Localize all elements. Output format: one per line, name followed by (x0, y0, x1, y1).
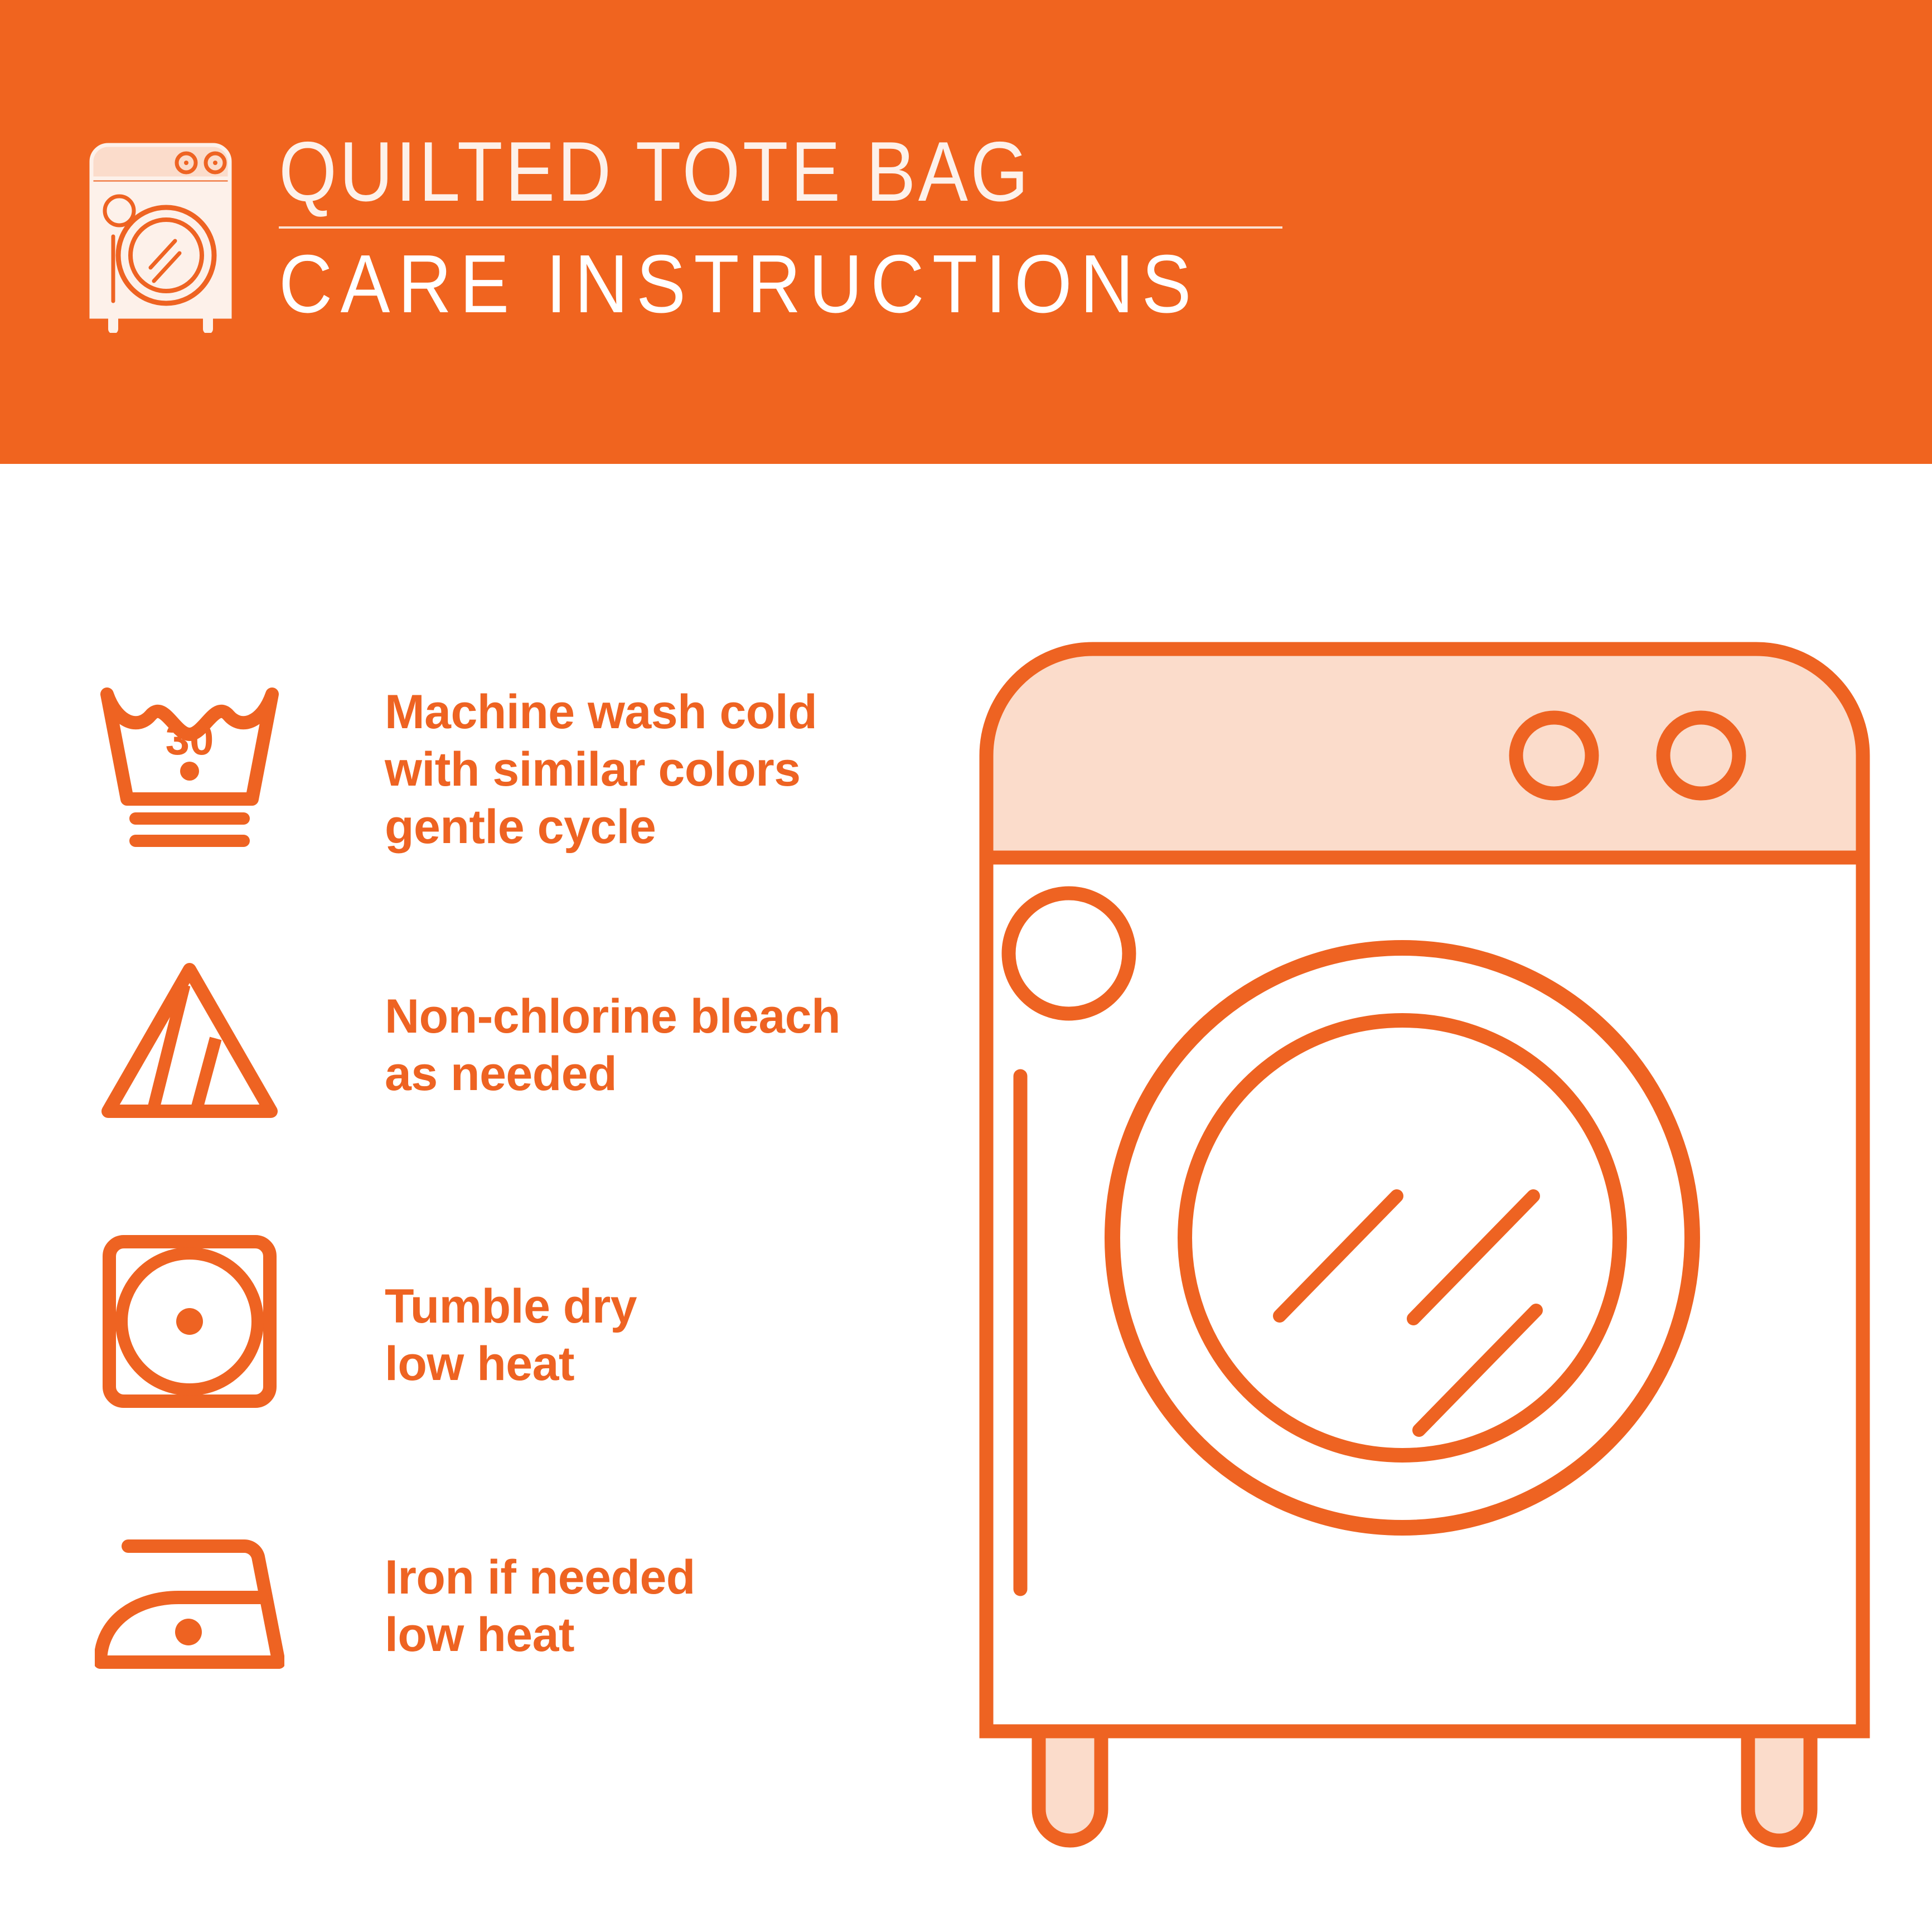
care-text-tumble-dry: Tumble dry low heat (385, 1278, 637, 1393)
machine-foot-right (1748, 1731, 1810, 1841)
page-subtitle: CARE INSTRUCTIONS (279, 243, 1199, 326)
tumble-dry-low-icon (84, 1216, 296, 1427)
washing-machine-icon (83, 135, 244, 333)
care-instruction-list: 30 Machine wash cold with similar colors… (84, 658, 909, 1773)
wash-tub-30-gentle-icon: 30 (84, 658, 296, 870)
care-row-iron: Iron if needed low heat (84, 1494, 909, 1773)
non-chlorine-bleach-triangle-icon (84, 937, 296, 1149)
machine-foot-left (1039, 1731, 1101, 1841)
large-washing-machine-illustration (973, 636, 1876, 1848)
care-text-wash: Machine wash cold with similar colors ge… (385, 684, 817, 856)
iron-low-heat-icon (84, 1494, 296, 1706)
wash-temperature-label: 30 (166, 715, 214, 764)
care-row-bleach: Non-chlorine bleach as needed (84, 937, 909, 1216)
header-band: QUILTED TOTE BAG CARE INSTRUCTIONS (0, 0, 1932, 464)
care-row-wash: 30 Machine wash cold with similar colors… (84, 658, 909, 937)
care-text-iron: Iron if needed low heat (385, 1549, 695, 1664)
header-title-block: QUILTED TOTE BAG CARE INSTRUCTIONS (279, 129, 1301, 326)
page-title: QUILTED TOTE BAG (279, 129, 1179, 214)
control-panel (986, 649, 1863, 858)
title-divider (279, 226, 1282, 229)
header-content: QUILTED TOTE BAG CARE INSTRUCTIONS (83, 129, 1343, 352)
care-instructions-page: QUILTED TOTE BAG CARE INSTRUCTIONS 30 (0, 0, 1932, 1932)
care-text-bleach: Non-chlorine bleach as needed (385, 988, 840, 1103)
care-row-tumble-dry: Tumble dry low heat (84, 1216, 909, 1494)
